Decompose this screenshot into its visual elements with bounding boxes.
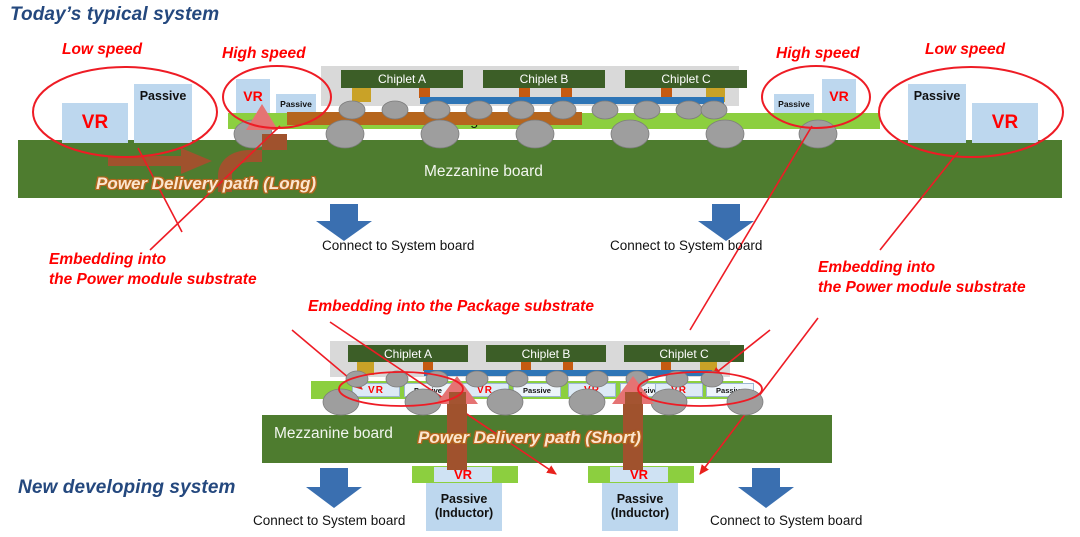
- label-high-speed-left: High speed: [222, 44, 306, 64]
- diagram-canvas: Today’s typical system New developing sy…: [0, 0, 1080, 537]
- label-connect-bottom-right: Connect to System board: [710, 513, 862, 528]
- label-connect-top-right: Connect to System board: [610, 238, 762, 253]
- bottom-solder-balls-upper: [346, 371, 723, 387]
- annotation-embed-power-module-right-line1: Embedding into: [818, 258, 1026, 278]
- annotation-embed-power-module-left-line1: Embedding into: [49, 250, 257, 270]
- label-connect-top-left: Connect to System board: [322, 238, 474, 253]
- label-high-speed-right: High speed: [776, 44, 860, 64]
- top-connect-arrow-left: [316, 204, 372, 241]
- annotation-embed-power-module-right: Embedding into the Power module substrat…: [818, 258, 1026, 297]
- ellipse-high-speed-right: [762, 66, 870, 128]
- ellipse-high-speed-left: [223, 66, 331, 128]
- annotation-embed-power-module-left: Embedding into the Power module substrat…: [49, 250, 257, 289]
- bottom-connect-arrow-right: [738, 468, 794, 508]
- label-power-path-short: Power Delivery path (Short): [418, 428, 641, 448]
- top-solder-balls-lower: [234, 120, 837, 148]
- leader-to-embedded-right: [712, 330, 770, 376]
- label-power-path-long: Power Delivery path (Long): [96, 174, 316, 194]
- top-connect-arrow-right: [698, 204, 754, 241]
- bottom-power-arrow-right: [612, 376, 654, 470]
- label-low-speed-right: Low speed: [925, 40, 1005, 60]
- annotation-embed-power-module-right-line2: the Power module substrate: [818, 278, 1026, 298]
- top-solder-balls-upper: [339, 101, 727, 119]
- annotation-embed-package-substrate: Embedding into the Package substrate: [308, 297, 594, 317]
- ellipse-low-speed-left: [33, 67, 217, 157]
- bottom-connect-arrow-left: [306, 468, 362, 508]
- bottom-solder-balls-lower: [323, 389, 763, 415]
- leader-right-low-speed: [880, 152, 958, 250]
- label-connect-bottom-left: Connect to System board: [253, 513, 405, 528]
- annotation-embed-power-module-left-line2: the Power module substrate: [49, 270, 257, 290]
- bottom-power-arrow-left: [436, 376, 478, 470]
- ellipse-low-speed-right: [879, 67, 1063, 157]
- label-low-speed-left: Low speed: [62, 40, 142, 60]
